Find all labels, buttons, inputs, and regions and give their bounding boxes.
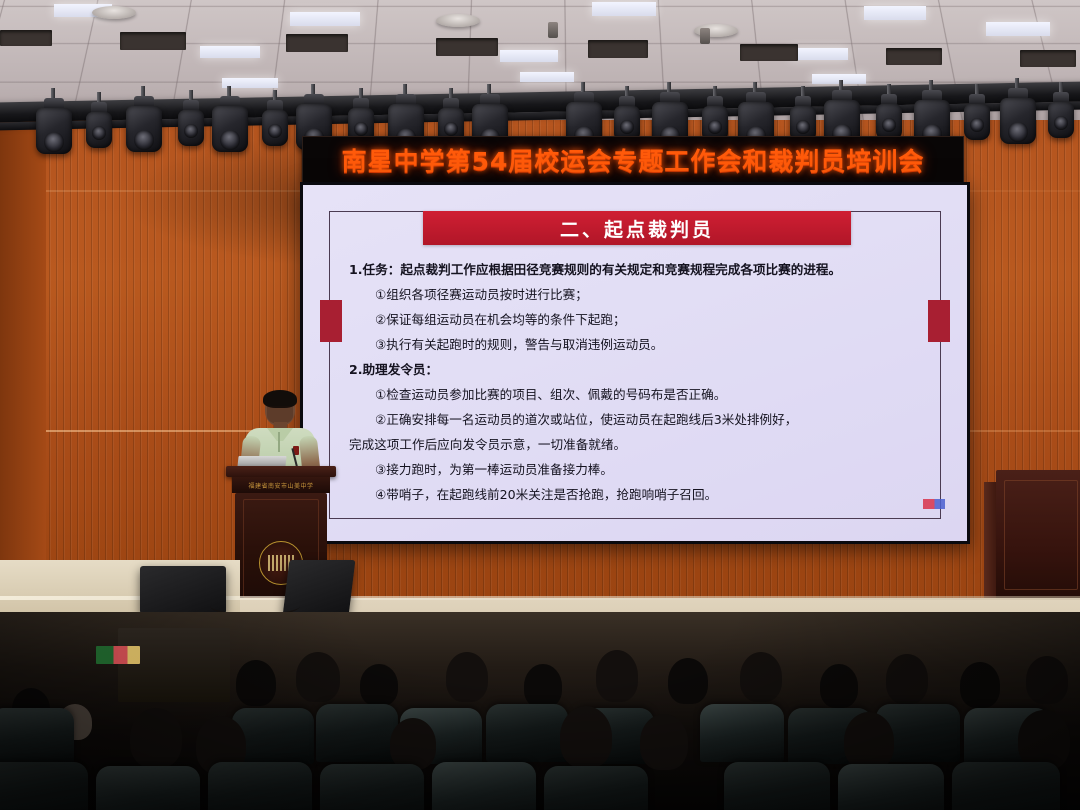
slide-line: ①组织各项径赛运动员按时进行比赛；	[349, 282, 927, 307]
slide-line: ③执行有关起跑时的规则，警告与取消违例运动员。	[349, 332, 927, 357]
slide-line: 完成这项工作后应向发令员示意，一切准备就绪。	[349, 432, 927, 457]
slide-title-text: 二、起点裁判员	[560, 215, 714, 242]
ceiling-vent	[886, 48, 942, 65]
led-banner: 南星中学第54届校运会专题工作会和裁判员培训会	[302, 136, 964, 184]
ceiling-light-panel	[200, 46, 260, 58]
ceiling-vent	[588, 40, 648, 58]
ceiling-vent	[436, 38, 498, 56]
stage-side-cabinet	[996, 470, 1080, 602]
ceiling-vent	[0, 30, 52, 46]
ceiling-vent	[286, 34, 348, 52]
slide-line: 1.任务：起点裁判工作应根据田径竞赛规则的有关规定和竞赛规程完成各项比赛的进程。	[349, 257, 927, 282]
slide-line: ②正确安排每一名运动员的道次或站位，使运动员在起跑线后3米处排例好，	[349, 407, 927, 432]
presenter-placket	[278, 432, 280, 452]
slide-line: ①检查运动员参加比赛的项目、组次、佩戴的号码布是否正确。	[349, 382, 927, 407]
ceiling-light-panel	[864, 6, 926, 20]
ceiling-light-panel	[500, 50, 558, 62]
ceiling-speaker-icon	[436, 14, 480, 27]
slide-line: 2.助理发令员：	[349, 357, 927, 382]
stage-left-wall	[0, 120, 46, 600]
ceiling-light-panel	[290, 12, 360, 26]
ceiling-vent	[1020, 50, 1076, 67]
slide-surface: 二、起点裁判员 1.任务：起点裁判工作应根据田径竞赛规则的有关规定和竞赛规程完成…	[303, 185, 967, 541]
auditorium-scene: 南星中学第54届校运会专题工作会和裁判员培训会 二、起点裁判员 1.任务：起点裁…	[0, 0, 1080, 810]
slide-title-banner: 二、起点裁判员	[423, 211, 851, 245]
ceiling-speaker-icon	[92, 6, 136, 19]
podium-top	[226, 466, 336, 477]
led-banner-text: 南星中学第54届校运会专题工作会和裁判员培训会	[342, 142, 925, 178]
projection-screen: 二、起点裁判员 1.任务：起点裁判工作应根据田径竞赛规则的有关规定和竞赛规程完成…	[300, 182, 970, 544]
slide-body: 1.任务：起点裁判工作应根据田径竞赛规则的有关规定和竞赛规程完成各项比赛的进程。…	[349, 257, 927, 507]
ceiling-light-panel	[986, 22, 1050, 36]
slide-accent-block-left	[320, 300, 342, 342]
sprinkler-icon	[700, 28, 710, 44]
ceiling-light-panel	[520, 72, 574, 82]
slide-line: ③接力跑时，为第一棒运动员准备接力棒。	[349, 457, 927, 482]
stacked-materials	[96, 646, 140, 664]
slide-line: ②保证每组运动员在机会均等的条件下起跑；	[349, 307, 927, 332]
slide-line: ④带哨子，在起跑线前20米关注是否抢跑，抢跑响哨子召回。	[349, 482, 927, 507]
side-equipment-case	[118, 628, 230, 702]
ceiling-vent	[120, 32, 186, 50]
cabinet-panel	[1004, 480, 1078, 590]
slide-accent-block-right	[928, 300, 950, 342]
ceiling-vent	[740, 44, 798, 61]
sprinkler-icon	[548, 22, 558, 38]
podium-nameplate: 福建省南安市山美中学	[232, 477, 330, 493]
ceiling-light-panel	[790, 48, 848, 60]
slide-logo-icon	[923, 499, 945, 509]
podium-nameplate-text: 福建省南安市山美中学	[248, 481, 313, 490]
ceiling-light-panel	[592, 2, 656, 16]
